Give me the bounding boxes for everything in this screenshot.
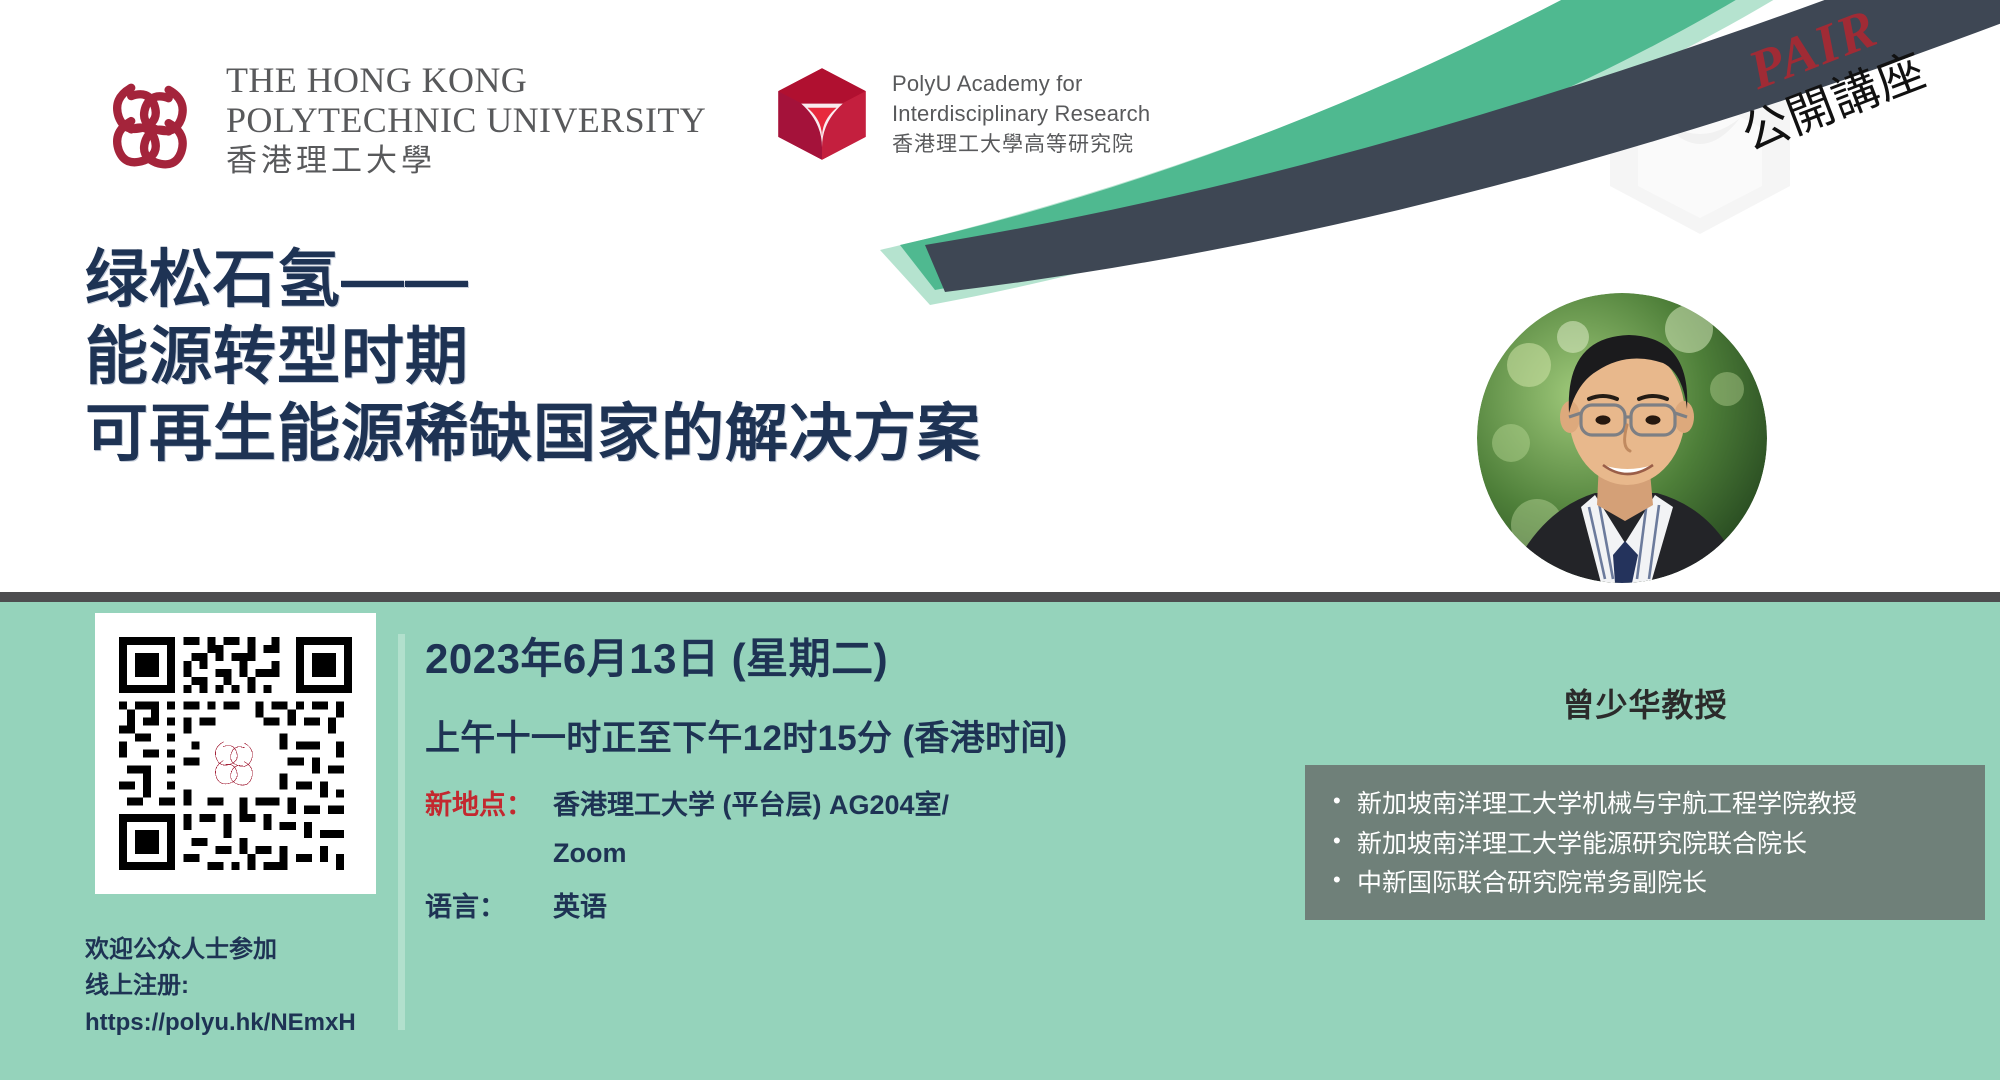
qr-code[interactable] bbox=[95, 613, 376, 894]
language-label: 语言： bbox=[425, 885, 553, 924]
speaker-affiliation-list: 新加坡南洋理工大学机械与宇航工程学院教授 新加坡南洋理工大学能源研究院联合院长 … bbox=[1331, 785, 1959, 904]
language-value: 英语 bbox=[553, 885, 607, 924]
academy-wordmark: PolyU Academy for Interdisciplinary Rese… bbox=[892, 69, 1150, 159]
page-title: 绿松石氢—— 能源转型时期 可再生能源稀缺国家的解决方案 bbox=[85, 242, 981, 473]
pair-cube-icon bbox=[770, 62, 874, 166]
vertical-divider bbox=[398, 634, 405, 1030]
divider-stripe bbox=[0, 592, 2000, 602]
academy-line-2: Interdisciplinary Research bbox=[892, 99, 1150, 129]
venue-label: 新地点： bbox=[425, 783, 553, 869]
venue-value: 香港理工大学 (平台层) AG204室/ bbox=[553, 790, 949, 820]
speaker-portrait bbox=[1477, 293, 1767, 583]
venue-value-line2: Zoom bbox=[553, 838, 949, 869]
title-line-1: 绿松石氢—— bbox=[85, 242, 981, 319]
registration-label: 线上注册: bbox=[85, 968, 356, 1004]
pair-lecture-badge: PAIR 公開講座 bbox=[1663, 0, 1997, 217]
event-venue-row: 新地点： 香港理工大学 (平台层) AG204室/ Zoom bbox=[425, 783, 1068, 869]
title-line-2: 能源转型时期 bbox=[85, 319, 981, 396]
event-details: 2023年6月13日 (星期二) 上午十一时正至下午12时15分 (香港时间) … bbox=[425, 625, 1068, 924]
polyu-wordmark: THE HONG KONG POLYTECHNIC UNIVERSITY 香港理… bbox=[226, 62, 706, 176]
venue-value-wrap: 香港理工大学 (平台层) AG204室/ Zoom bbox=[553, 783, 949, 869]
list-item: 新加坡南洋理工大学能源研究院联合院长 bbox=[1331, 825, 1959, 865]
event-language-row: 语言： 英语 bbox=[425, 885, 1068, 924]
academy-line-3: 香港理工大學高等研究院 bbox=[892, 131, 1150, 159]
polyu-line-3: 香港理工大學 bbox=[226, 145, 706, 176]
speaker-bio-panel: 新加坡南洋理工大学机械与宇航工程学院教授 新加坡南洋理工大学能源研究院联合院长 … bbox=[1305, 765, 1985, 920]
registration-welcome: 欢迎公众人士参加 bbox=[85, 932, 356, 968]
list-item: 中新国际联合研究院常务副院长 bbox=[1331, 864, 1959, 904]
poster-canvas: THE HONG KONG POLYTECHNIC UNIVERSITY 香港理… bbox=[0, 0, 2000, 1080]
registration-url[interactable]: https://polyu.hk/NEmxH bbox=[85, 1005, 356, 1041]
speaker-name: 曾少华教授 bbox=[1305, 680, 1985, 726]
academy-line-1: PolyU Academy for bbox=[892, 69, 1150, 99]
academy-logo: PolyU Academy for Interdisciplinary Rese… bbox=[770, 62, 1150, 166]
polyu-knot-icon bbox=[100, 67, 204, 171]
event-time: 上午十一时正至下午12时15分 (香港时间) bbox=[425, 710, 1068, 761]
list-item: 新加坡南洋理工大学机械与宇航工程学院教授 bbox=[1331, 785, 1959, 825]
title-line-3: 可再生能源稀缺国家的解决方案 bbox=[85, 396, 981, 473]
polyu-logo: THE HONG KONG POLYTECHNIC UNIVERSITY 香港理… bbox=[100, 62, 706, 176]
polyu-line-1: THE HONG KONG bbox=[226, 62, 706, 98]
registration-info: 欢迎公众人士参加 线上注册: https://polyu.hk/NEmxH bbox=[85, 932, 356, 1041]
polyu-line-2: POLYTECHNIC UNIVERSITY bbox=[226, 102, 706, 138]
event-date: 2023年6月13日 (星期二) bbox=[425, 625, 1068, 686]
